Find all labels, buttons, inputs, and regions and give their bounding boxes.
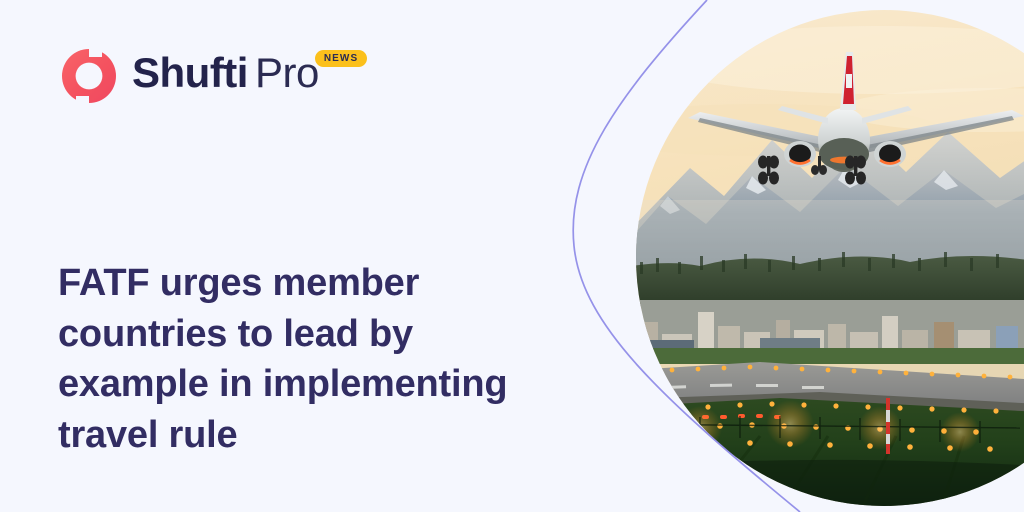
brand-lockup[interactable]: Shufti Pro NEWS <box>60 44 319 105</box>
shufti-pro-logo-mark <box>60 47 118 105</box>
landing-airplane-photo <box>580 0 1024 512</box>
brand-word-secondary: Pro <box>255 44 319 102</box>
news-badge: NEWS <box>315 50 367 67</box>
page-title: FATF urges member countries to lead by e… <box>58 258 528 460</box>
approach-mast <box>886 398 890 454</box>
brand-wordmark: Shufti Pro NEWS <box>132 44 319 102</box>
brand-word-primary: Shufti <box>132 44 248 102</box>
news-banner: Shufti Pro NEWS FATF urges member countr… <box>0 0 1024 512</box>
